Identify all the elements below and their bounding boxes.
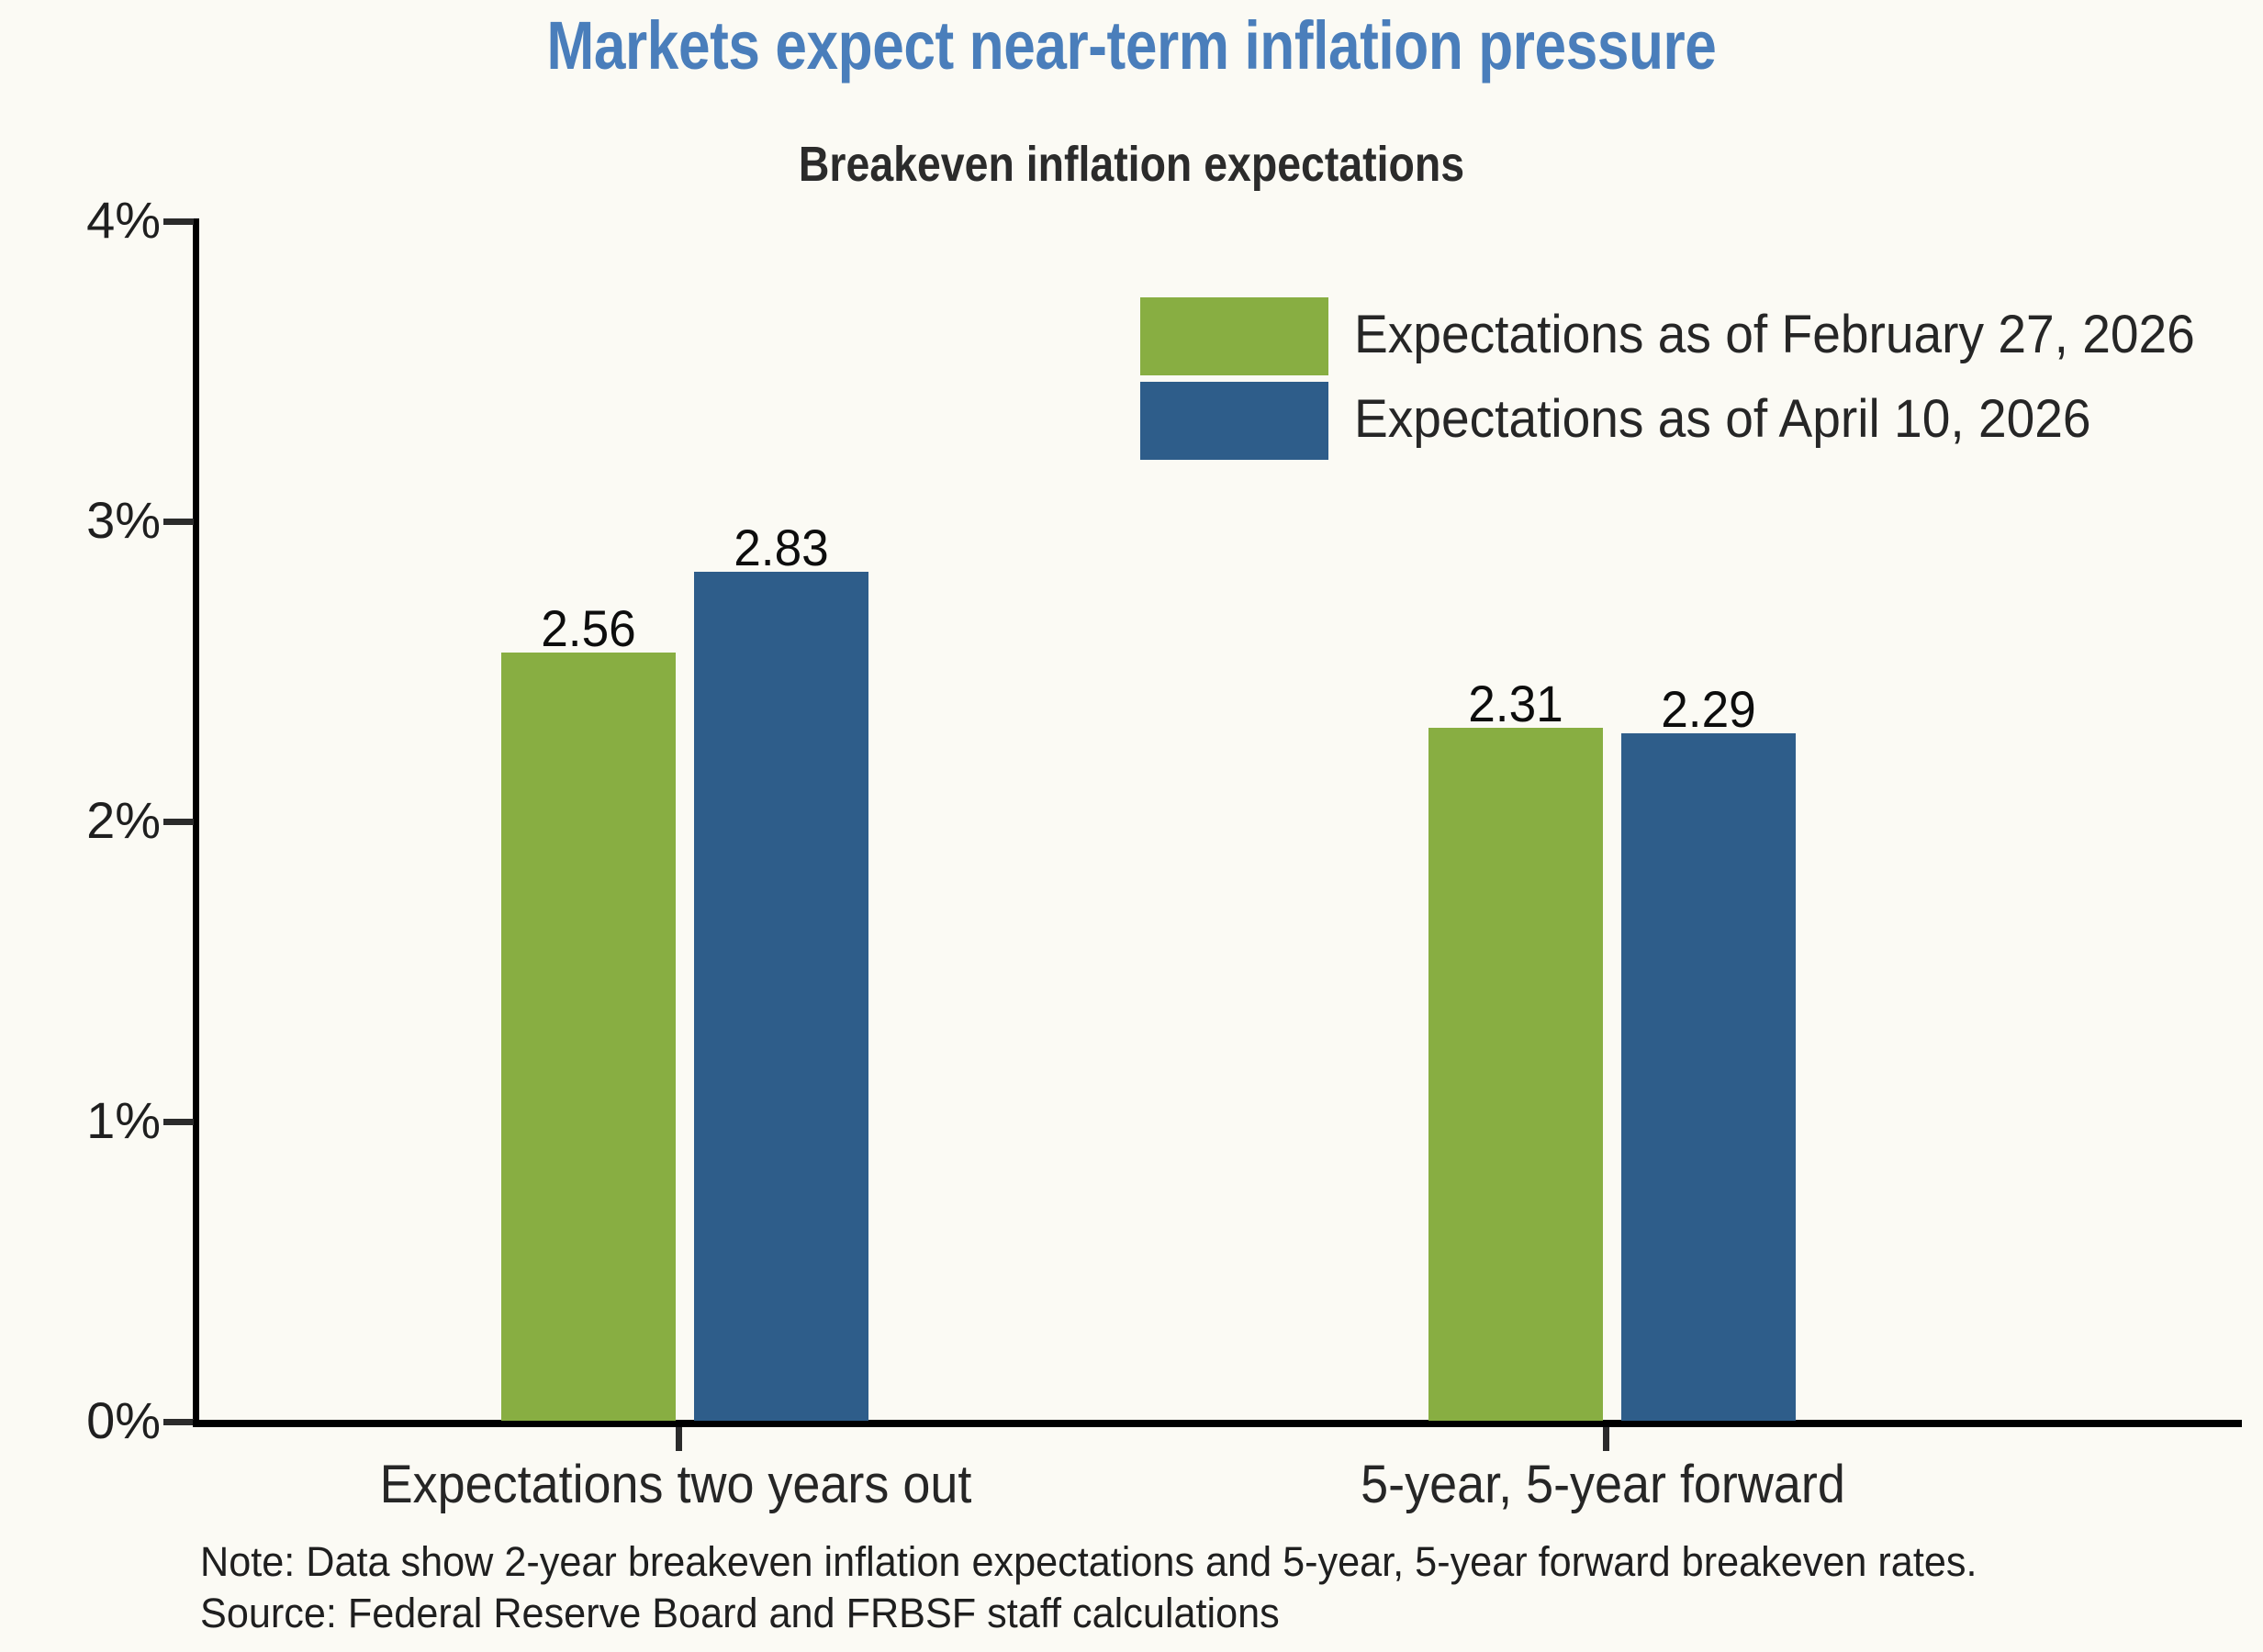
x-axis-line <box>193 1420 2242 1427</box>
y-axis-label-3: 3% <box>0 495 161 546</box>
bar-series2-category2[interactable] <box>1621 733 1796 1421</box>
legend-label-apr: Expectations as of April 10, 2026 <box>1354 389 2091 450</box>
x-axis-tick-group-2 <box>1603 1427 1609 1451</box>
footnote: Note: Data show 2-year breakeven inflati… <box>200 1536 1977 1639</box>
legend-label-feb: Expectations as of February 27, 2026 <box>1354 305 2195 365</box>
y-axis-tick-1 <box>163 1119 194 1125</box>
y-axis-label-1: 1% <box>0 1095 161 1146</box>
y-axis-label-0: 0% <box>0 1395 161 1446</box>
y-axis-label-2: 2% <box>0 795 161 846</box>
bar-series1-category1[interactable] <box>501 653 676 1421</box>
y-axis-label-4: 4% <box>0 195 161 246</box>
legend-swatch-blue-icon <box>1140 382 1328 460</box>
y-axis-line <box>193 218 199 1426</box>
bar-value-series2-category1: 2.83 <box>655 520 908 575</box>
x-axis-category-label-2: 5-year, 5-year forward <box>1305 1456 1902 1514</box>
x-axis-tick-group-1 <box>676 1427 682 1451</box>
x-axis-category-label-1: Expectations two years out <box>377 1456 975 1514</box>
bar-value-series1-category1: 2.56 <box>462 601 715 656</box>
y-axis-tick-2 <box>163 819 194 825</box>
chart-page: Markets expect near-term inflation press… <box>0 0 2263 1652</box>
legend-swatch-green-icon <box>1140 297 1328 375</box>
footnote-source: Source: Federal Reserve Board and FRBSF … <box>200 1588 1977 1639</box>
y-axis-tick-0 <box>163 1419 194 1425</box>
y-axis-tick-4 <box>163 218 194 225</box>
bar-value-series2-category2: 2.29 <box>1582 682 1835 737</box>
footnote-note: Note: Data show 2-year breakeven inflati… <box>200 1536 1977 1588</box>
bar-series2-category1[interactable] <box>694 572 868 1421</box>
plot-area: 4% 3% 2% 1% 0% Expectations two years ou… <box>0 0 2263 1652</box>
bar-series1-category2[interactable] <box>1428 728 1603 1421</box>
y-axis-tick-3 <box>163 519 194 525</box>
